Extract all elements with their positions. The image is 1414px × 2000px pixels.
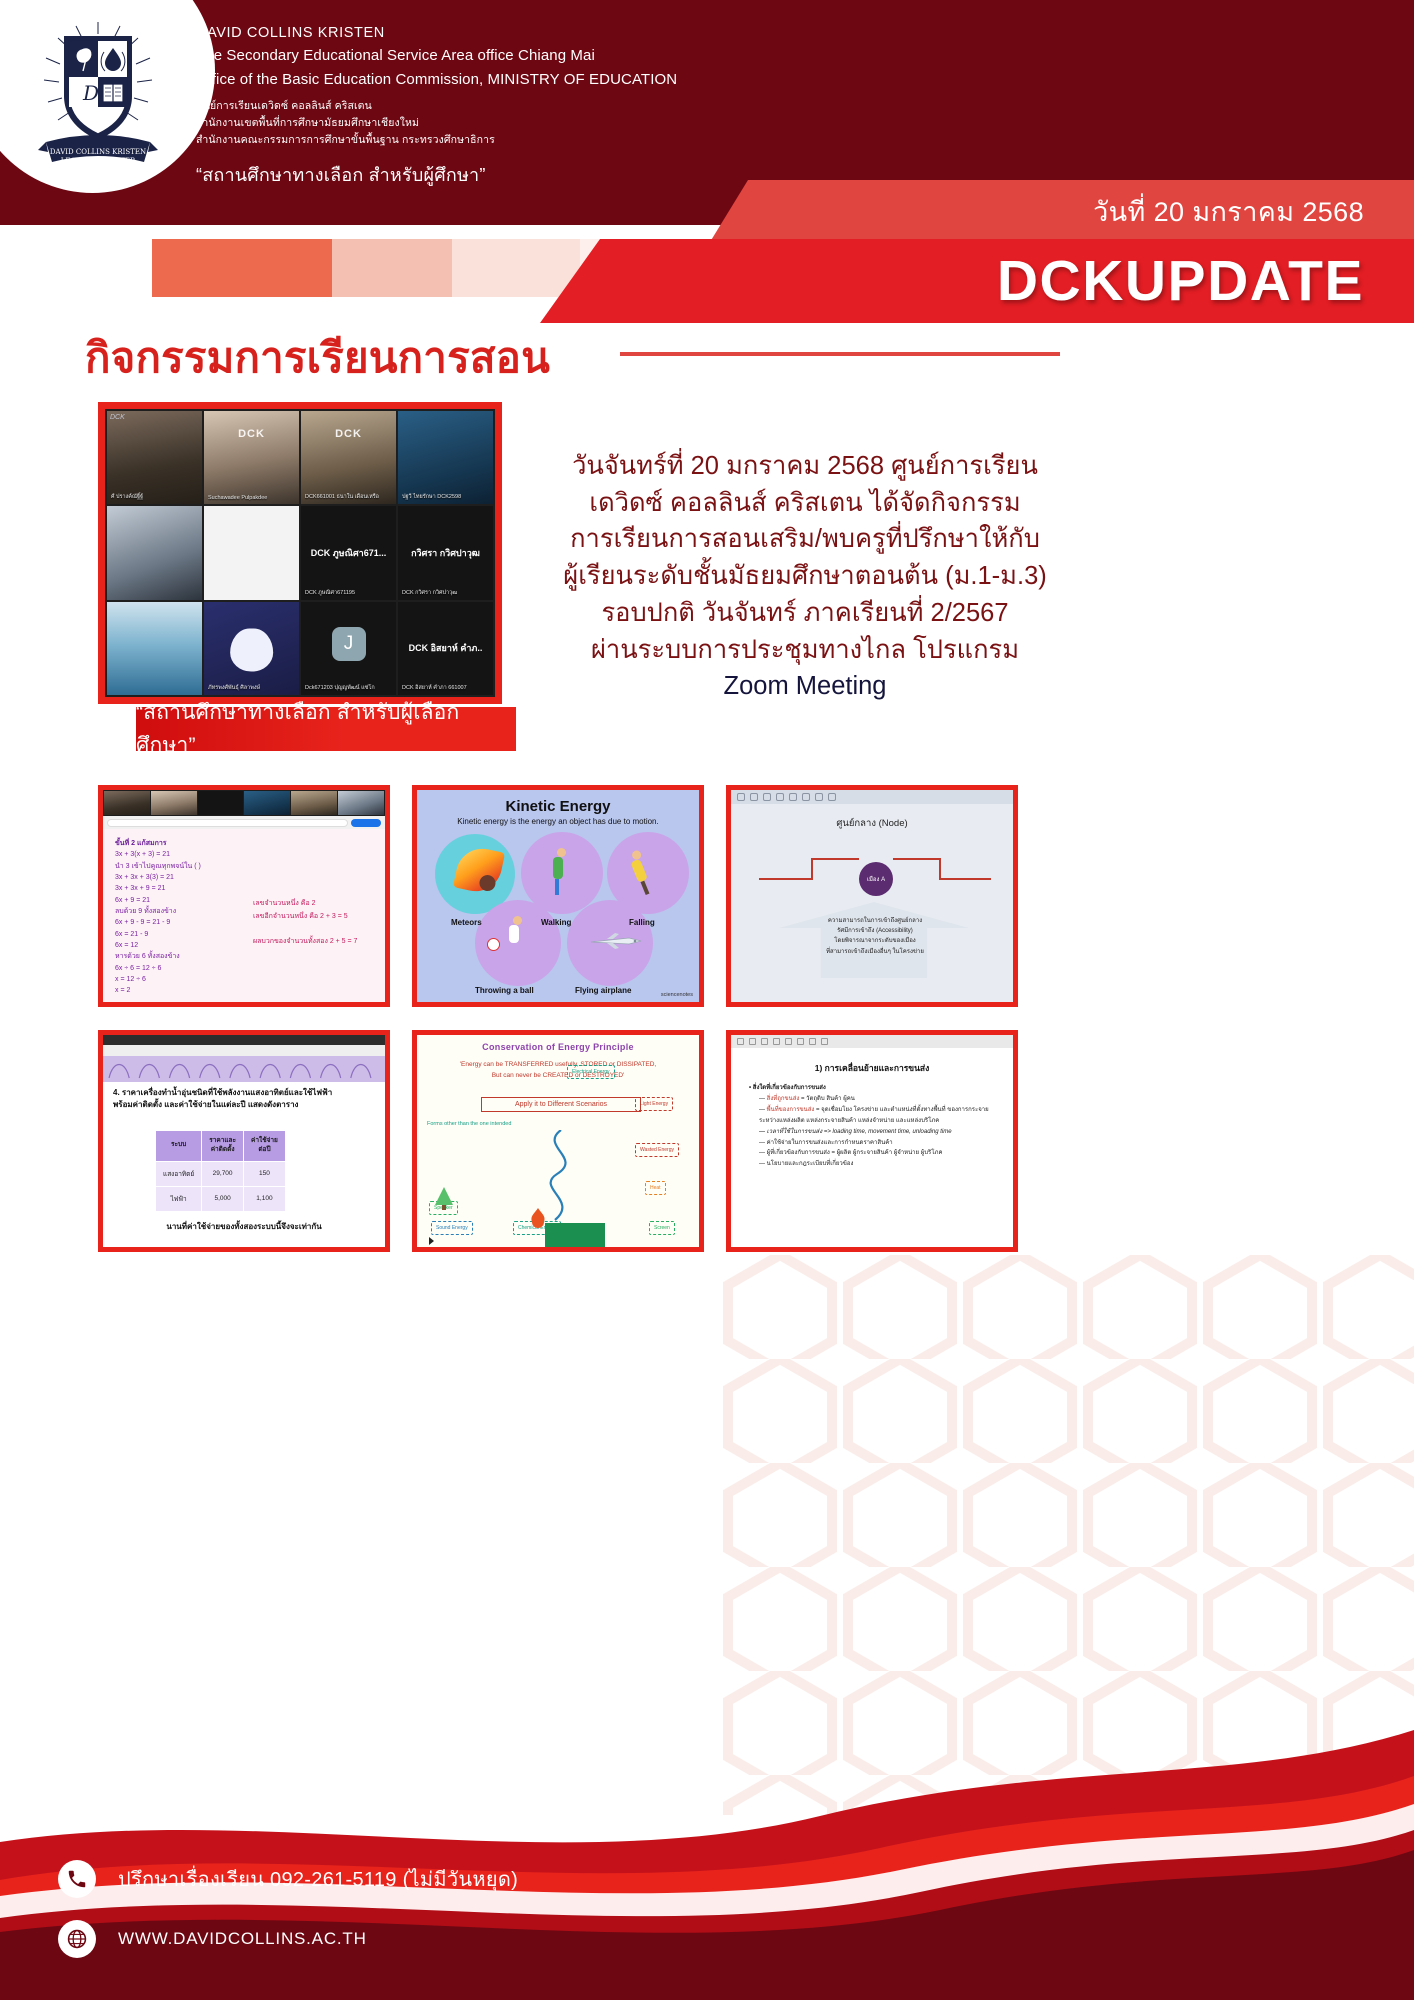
math-step: 6x ÷ 6 = 12 ÷ 6 bbox=[115, 965, 161, 972]
transport-item-label: พื้นที่ของการขนส่ง bbox=[767, 1107, 815, 1113]
transport-item-text: ผู้ที่เกี่ยวข้องกับการขนส่ง = ผู้ผลิต ผู… bbox=[767, 1150, 943, 1156]
conservation-slide: Conservation of Energy Principle 'Energy… bbox=[417, 1035, 699, 1247]
zoom-tile: DCK อิสยาห์ คำภ.. DCK อิสยาห์ คำภา 66100… bbox=[398, 602, 493, 695]
math-note: เลขอีกจำนวนหนึ่ง คือ 2 + 3 = 5 bbox=[253, 913, 348, 920]
transport-item-text: = วัตถุดิบ สินค้า ผู้คน bbox=[799, 1096, 855, 1102]
transport-item: — ผู้ที่เกี่ยวข้องกับการขนส่ง = ผู้ผลิต … bbox=[749, 1148, 1001, 1159]
toolbar-icon[interactable] bbox=[763, 793, 771, 801]
tree-icon bbox=[431, 1185, 457, 1211]
toolbar-icon[interactable] bbox=[749, 1038, 756, 1045]
gallery-image-kinetic-energy: Kinetic Energy Kinetic energy is the ene… bbox=[412, 785, 704, 1007]
browser-tab-bar[interactable] bbox=[103, 1045, 385, 1056]
math-note: ผลบวกของจำนวนทั้งสอง 2 + 5 = 7 bbox=[253, 938, 357, 945]
table-row: แสงอาทิตย์ 29,700 150 bbox=[156, 1161, 286, 1186]
footer-website-row[interactable]: WWW.DAVIDCOLLINS.AC.TH bbox=[58, 1920, 367, 1958]
footer-phone-row: ปรึกษาเรื่องเรียน 092-261-5119 (ไม่มีวัน… bbox=[58, 1860, 518, 1898]
footer-phone-text: ปรึกษาเรื่องเรียน 092-261-5119 (ไม่มีวัน… bbox=[118, 1863, 518, 1895]
table-header-cell: ค่าใช้จ่าย ต่อปี bbox=[244, 1131, 286, 1162]
table-cell: 5,000 bbox=[202, 1186, 244, 1211]
math-step: หารด้วย 6 ทั้งสองข้าง bbox=[115, 953, 180, 960]
transport-item: — สิ่งที่ถูกขนส่ง = วัตถุดิบ สินค้า ผู้ค… bbox=[749, 1094, 1001, 1105]
gallery-row-2: 4. ราคาเครื่องทำน้ำอุ่นชนิดที่ใช้พลังงาน… bbox=[98, 1030, 1318, 1252]
org-name-en: DAVID COLLINS KRISTEN bbox=[196, 22, 677, 44]
transport-item: — เวลาที่ใช้ในการขนส่ง => loading time, … bbox=[749, 1127, 1001, 1138]
node-line bbox=[939, 878, 991, 880]
baseball-icon bbox=[487, 938, 500, 951]
svg-text:D: D bbox=[82, 81, 99, 105]
walking-person-icon bbox=[553, 848, 566, 895]
title-band: DCKUPDATE bbox=[540, 239, 1414, 323]
table-cell: ไฟฟ้า bbox=[156, 1186, 202, 1211]
video-play-strip[interactable] bbox=[545, 1223, 605, 1247]
org-office-en: The Secondary Educational Service Area o… bbox=[196, 44, 677, 67]
kinetic-label: Throwing a ball bbox=[475, 986, 534, 995]
participant-name: ปฐวี ไทยรักษา DCK2598 bbox=[402, 493, 461, 501]
energy-box: Screen bbox=[649, 1221, 675, 1235]
hero-caption-banner: “สถานศึกษาทางเลือก สำหรับผู้เลือกศึกษา” bbox=[136, 707, 516, 751]
energy-box: Heat bbox=[645, 1181, 666, 1195]
toolbar-icon[interactable] bbox=[750, 793, 758, 801]
conservation-note: Forms other than the one intended bbox=[427, 1121, 511, 1127]
globe-icon bbox=[58, 1920, 96, 1958]
math-note: เลขจำนวนหนึ่ง คือ 2 bbox=[253, 900, 316, 907]
zoom-tile: ปฐวี ไทยรักษา DCK2598 bbox=[398, 411, 493, 504]
zoom-tile bbox=[107, 506, 202, 599]
kinetic-label: Falling bbox=[629, 918, 655, 927]
participant-name: ศ์ ปรางค์ณัฐิ์ฐ์ bbox=[111, 493, 143, 501]
participant-label: DCK อิสยาห์ คำภ.. bbox=[398, 641, 493, 655]
toolbar-icon[interactable] bbox=[785, 1038, 792, 1045]
transport-bullet-main: • สิ่งใดที่เกี่ยวข้องกับการขนส่ง bbox=[749, 1083, 1001, 1094]
math-step: x = 12 ÷ 6 bbox=[115, 976, 146, 983]
gallery-image-node-diagram: ศูนย์กลาง (Node) เมือง A ความสามารถในการ… bbox=[726, 785, 1018, 1007]
body-line: รอบปกติ วันจันทร์ ภาคเรียนที่ 2/2567 bbox=[540, 595, 1070, 632]
toolbar-icon[interactable] bbox=[802, 793, 810, 801]
zoom-strip bbox=[103, 790, 385, 816]
participant-label: DCK ภูษณิศา671... bbox=[301, 546, 396, 560]
org-office-th: สำนักงานเขตพื้นที่การศึกษามัธยมศึกษาเชีย… bbox=[196, 115, 677, 132]
header-org-text: DAVID COLLINS KRISTEN The Secondary Educ… bbox=[196, 22, 677, 189]
transport-item: — นโยบายและกฎระเบียบที่เกี่ยวข้อง bbox=[749, 1159, 1001, 1170]
pitcher-icon bbox=[509, 916, 522, 943]
zoom-tile: ภัทรพงศ์พันธุ์ ศิลาพงษ์ bbox=[204, 602, 299, 695]
airplane-icon bbox=[589, 932, 645, 950]
transport-item-label: สิ่งที่ถูกขนส่ง bbox=[767, 1096, 800, 1102]
body-line: การเรียนการสอนเสริม/พบครูที่ปรึกษาให้กับ bbox=[540, 521, 1070, 558]
zoom-tile: J Dck671203 ปุญญพัฒน์ แซ่โก bbox=[301, 602, 396, 695]
math-step: ลบด้วย 9 ทั้งสองข้าง bbox=[115, 908, 176, 915]
participant-label: กวิศรา กวิศปาวุฒ bbox=[398, 546, 493, 560]
hero-caption-text: “สถานศึกษาทางเลือก สำหรับผู้เลือกศึกษา” bbox=[136, 696, 516, 762]
page-title: DCKUPDATE bbox=[997, 248, 1364, 314]
participant-name: DCK661001 ธนาใน เดือนเหรือ bbox=[305, 493, 379, 501]
play-icon[interactable] bbox=[429, 1237, 437, 1245]
table-header-cell: ระบบ bbox=[156, 1131, 202, 1162]
toolbar-icon[interactable] bbox=[828, 793, 836, 801]
zoom-tile: DCK DCK661001 ธนาใน เดือนเหรือ bbox=[301, 411, 396, 504]
browser-top-bar bbox=[103, 1035, 385, 1045]
transport-title: 1) การเคลื่อนย้ายและการขนส่ง bbox=[731, 1061, 1013, 1075]
toolbar-icon[interactable] bbox=[776, 793, 784, 801]
kinetic-label: Meteors bbox=[451, 918, 482, 927]
math-step: นำ 3 เข้าไปคูณทุกพจน์ใน ( ) bbox=[115, 863, 201, 870]
node-caption: ความสามารถในการเข้าถึงศูนย์กลาง รัศมีการ… bbox=[787, 916, 963, 957]
transport-bullets: • สิ่งใดที่เกี่ยวข้องกับการขนส่ง — สิ่งท… bbox=[749, 1083, 1001, 1170]
zoom-participant-grid: DCK ศ์ ปรางค์ณัฐิ์ฐ์ DCK Suchawadee Pulp… bbox=[105, 409, 495, 697]
table-row: ไฟฟ้า 5,000 1,100 bbox=[156, 1186, 286, 1211]
phone-icon bbox=[58, 1860, 96, 1898]
kinetic-label: Flying airplane bbox=[575, 986, 631, 995]
table-header-row: ระบบ ราคาและ ค่าติดตั้ง ค่าใช้จ่าย ต่อปี bbox=[156, 1131, 286, 1162]
transport-slide: 1) การเคลื่อนย้ายและการขนส่ง • สิ่งใดที่… bbox=[731, 1035, 1013, 1247]
table-question: 4. ราคาเครื่องทำน้ำอุ่นชนิดที่ใช้พลังงาน… bbox=[113, 1087, 377, 1111]
participant-name: Suchawadee Pulpakdee bbox=[208, 495, 267, 501]
transport-bullet-text: สิ่งใดที่เกี่ยวข้องกับการขนส่ง bbox=[753, 1085, 826, 1091]
conservation-subtitle: 'Energy can be TRANSFERRED usefully, STO… bbox=[425, 1059, 691, 1081]
transport-item-text: นโยบายและกฎระเบียบที่เกี่ยวข้อง bbox=[767, 1161, 854, 1167]
gallery-image-solar-table: 4. ราคาเครื่องทำน้ำอุ่นชนิดที่ใช้พลังงาน… bbox=[98, 1030, 390, 1252]
org-commission-th: สำนักงานคณะกรรมการการศึกษาขั้นพื้นฐาน กร… bbox=[196, 132, 677, 149]
toolbar-icon[interactable] bbox=[797, 1038, 804, 1045]
table-slide: 4. ราคาเครื่องทำน้ำอุ่นชนิดที่ใช้พลังงาน… bbox=[103, 1035, 385, 1247]
table-cell: 29,700 bbox=[202, 1161, 244, 1186]
toolbar-icon[interactable] bbox=[789, 793, 797, 801]
table-cell: แสงอาทิตย์ bbox=[156, 1161, 202, 1186]
kinetic-label: Walking bbox=[541, 918, 571, 927]
table-cell: 1,100 bbox=[244, 1186, 286, 1211]
footer-website-text: WWW.DAVIDCOLLINS.AC.TH bbox=[118, 1929, 367, 1949]
toolbar-icon[interactable] bbox=[821, 1038, 828, 1045]
node-line bbox=[811, 858, 813, 880]
table-footer-note: นานที่ค่าใช้จ่ายของทั้งสองระบบนี้จึงจะเท… bbox=[103, 1220, 385, 1233]
energy-box: Electrical Energy bbox=[567, 1065, 615, 1079]
participant-name: DCK อิสยาห์ คำภา 661007 bbox=[402, 684, 467, 692]
solar-cost-table: ระบบ ราคาและ ค่าติดตั้ง ค่าใช้จ่าย ต่อปี… bbox=[155, 1130, 286, 1212]
zoom-tile: DCK ภูษณิศา671... DCK ภูษณิศา671195 bbox=[301, 506, 396, 599]
math-notes: เลขจำนวนหนึ่ง คือ 2 เลขอีกจำนวนหนึ่ง คือ… bbox=[253, 898, 357, 948]
kinetic-credit: sciencenotes bbox=[661, 992, 693, 998]
hero-zoom-screenshot: DCK ศ์ ปรางค์ณัฐิ์ฐ์ DCK Suchawadee Pulp… bbox=[98, 402, 502, 704]
gallery-image-conservation-energy: Conservation of Energy Principle 'Energy… bbox=[412, 1030, 704, 1252]
gallery-image-math-equation: ขั้นที่ 2 แก้สมการ 3x + 3(x + 3) = 21 นำ… bbox=[98, 785, 390, 1007]
math-title: ขั้นที่ 2 แก้สมการ bbox=[115, 840, 167, 847]
upgrade-button[interactable] bbox=[351, 819, 381, 827]
org-slogan: “สถานศึกษาทางเลือก สำหรับผู้ศึกษา” bbox=[196, 160, 677, 189]
node-title: ศูนย์กลาง (Node) bbox=[731, 816, 1013, 831]
table-header-cell: ราคาและ ค่าติดตั้ง bbox=[202, 1131, 244, 1162]
zoom-tile: DCK ศ์ ปรางค์ณัฐิ์ฐ์ bbox=[107, 411, 202, 504]
document-toolbar[interactable] bbox=[731, 1035, 1013, 1048]
toolbar-icon[interactable] bbox=[815, 793, 823, 801]
zoom-tile: กวิศรา กวิศปาวุฒ DCK กวิศรา กวิศปาวุฒ bbox=[398, 506, 493, 599]
zoom-tile bbox=[107, 602, 202, 695]
energy-box: Light Energy bbox=[635, 1097, 673, 1111]
kinetic-slide: Kinetic Energy Kinetic energy is the ene… bbox=[417, 790, 699, 1002]
transport-item-text: ค่าใช้จ่ายในการขนส่งและการกำหนดราคาสินค้… bbox=[767, 1140, 893, 1146]
math-step: 6x = 21 - 9 bbox=[115, 931, 148, 938]
energy-box: Sound Energy bbox=[431, 1221, 473, 1235]
node-line bbox=[811, 858, 859, 860]
crest-motto-top: DAVID COLLINS KRISTEN bbox=[50, 148, 146, 156]
participant-name: Dck671203 ปุญญพัฒน์ แซ่โก bbox=[305, 684, 375, 692]
school-crest-logo: D DAVID COLLINS KRISTEN LEARNING CENTER bbox=[36, 14, 161, 174]
date-text: วันที่ 20 มกราคม 2568 bbox=[1093, 190, 1364, 233]
document-toolbar[interactable] bbox=[731, 790, 1013, 804]
node-line bbox=[939, 858, 941, 880]
org-commission-en: Office of the Basic Education Commission… bbox=[196, 68, 677, 91]
decorative-squiggle-band bbox=[103, 1056, 385, 1082]
crest-motto-bottom: LEARNING CENTER bbox=[61, 157, 136, 165]
node-line bbox=[893, 858, 939, 860]
article-body: วันจันทร์ที่ 20 มกราคม 2568 ศูนย์การเรีย… bbox=[540, 448, 1070, 705]
math-step: 6x = 12 bbox=[115, 942, 138, 949]
node-line bbox=[759, 878, 811, 880]
table-cell: 150 bbox=[244, 1161, 286, 1186]
math-step: 3x + 3x + 3(3) = 21 bbox=[115, 874, 174, 881]
math-step: 6x + 9 = 21 bbox=[115, 897, 150, 904]
conservation-apply-box: Apply it to Different Scenarios bbox=[481, 1097, 641, 1112]
zoom-tile bbox=[204, 506, 299, 599]
toolbar-icon[interactable] bbox=[761, 1038, 768, 1045]
kinetic-subtitle: Kinetic energy is the energy an object h… bbox=[417, 817, 699, 826]
toolbar-icon[interactable] bbox=[809, 1038, 816, 1045]
energy-box: Wasted Energy bbox=[635, 1143, 679, 1157]
conservation-title: Conservation of Energy Principle bbox=[417, 1042, 699, 1052]
page-footer: ปรึกษาเรื่องเรียน 092-261-5119 (ไม่มีวัน… bbox=[0, 1820, 1414, 2000]
math-steps-list: ขั้นที่ 2 แก้สมการ 3x + 3(x + 3) = 21 นำ… bbox=[115, 838, 201, 997]
transport-item: — พื้นที่ของการขนส่ง = จุดเชื่อมโยง โครง… bbox=[749, 1105, 1001, 1127]
math-step: 3x + 3(x + 3) = 21 bbox=[115, 851, 170, 858]
body-line: เดวิดซ์ คอลลินส์ คริสเตน ได้จัดกิจกรรม bbox=[540, 485, 1070, 522]
toolbar-icon[interactable] bbox=[737, 793, 745, 801]
transport-item-text: เวลาที่ใช้ในการขนส่ง => loading time, mo… bbox=[767, 1129, 952, 1135]
body-line: ผู้เรียนระดับชั้นมัธยมศึกษาตอนต้น (ม.1-ม… bbox=[540, 558, 1070, 595]
toolbar-icon[interactable] bbox=[773, 1038, 780, 1045]
gallery-image-transport-slide: 1) การเคลื่อนย้ายและการขนส่ง • สิ่งใดที่… bbox=[726, 1030, 1018, 1252]
url-input[interactable] bbox=[107, 819, 348, 827]
date-ribbon: วันที่ 20 มกราคม 2568 bbox=[710, 180, 1414, 242]
section-heading: กิจกรรมการเรียนการสอน bbox=[85, 325, 550, 391]
participant-avatar-initial: J bbox=[332, 627, 366, 661]
node-circle-label: เมือง A bbox=[867, 874, 885, 884]
toolbar-icon[interactable] bbox=[737, 1038, 744, 1045]
body-line: วันจันทร์ที่ 20 มกราคม 2568 ศูนย์การเรีย… bbox=[540, 448, 1070, 485]
org-name-th: ศูนย์การเรียนเดวิดซ์ คอลลินส์ คริสเตน bbox=[196, 98, 677, 115]
browser-url-bar bbox=[103, 816, 385, 829]
body-line-zoom-meeting: Zoom Meeting bbox=[540, 668, 1070, 705]
body-line: ผ่านระบบการประชุมทางไกล โปรแกรม bbox=[540, 632, 1070, 669]
zoom-tile-active: DCK Suchawadee Pulpakdee bbox=[204, 411, 299, 504]
node-slide: ศูนย์กลาง (Node) เมือง A ความสามารถในการ… bbox=[731, 790, 1013, 1002]
participant-name: DCK ภูษณิศา671195 bbox=[305, 589, 355, 597]
participant-name: ภัทรพงศ์พันธุ์ ศิลาพงษ์ bbox=[208, 684, 260, 692]
transport-item: — ค่าใช้จ่ายในการขนส่งและการกำหนดราคาสิน… bbox=[749, 1138, 1001, 1149]
participant-name: DCK กวิศรา กวิศปาวุฒ bbox=[402, 589, 457, 597]
node-center-circle: เมือง A bbox=[859, 862, 893, 896]
math-step: 3x + 3x + 9 = 21 bbox=[115, 885, 165, 892]
math-step: x = 2 bbox=[115, 987, 130, 994]
gallery-row-1: ขั้นที่ 2 แก้สมการ 3x + 3(x + 3) = 21 นำ… bbox=[98, 785, 1318, 1007]
heading-underline-rule bbox=[620, 352, 1060, 356]
kinetic-title: Kinetic Energy bbox=[417, 798, 699, 815]
math-step: 6x + 9 - 9 = 21 - 9 bbox=[115, 919, 170, 926]
